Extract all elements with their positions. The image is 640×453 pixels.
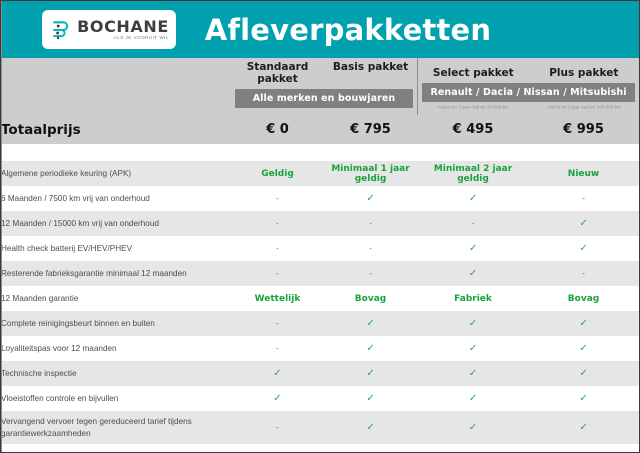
cell-select: ✓ [418,236,528,261]
cell-basis: - [324,236,417,261]
feature-label: Technische inspectie [1,361,231,386]
cell-basis: Bovag [324,286,417,311]
cell-plus: ✓ [528,336,639,361]
column-title-plus: Plus pakket [529,64,640,79]
cell-basis: ✓ [324,411,417,444]
cell-select: - [418,211,528,236]
table-row: Resterende fabrieksgarantie minimaal 12 … [1,261,639,286]
feature-label: Pechhulp Europa 24/7 tijdens fabrieksgar… [1,444,231,453]
afleverpakketten-page: BOCHANE ALS JE VOORUIT WIL Afleverpakket… [0,0,640,453]
cell-standaard: Wettelijk [231,286,324,311]
total-price-label: Totaalprijs [1,115,231,144]
cell-plus: Bovag [528,286,639,311]
total-price-row: Totaalprijs € 0 € 795 € 495 € 995 [1,115,639,144]
cell-standaard: - [231,236,324,261]
cell-select: ✓ [418,361,528,386]
spacer-right [418,144,639,161]
feature-label: Algemene periodieke keuring (APK) [1,161,231,186]
cell-plus: ✓ [528,361,639,386]
page-title: Afleverpakketten [1,13,639,47]
cell-basis: Minimaal 1 jaar geldig [324,161,417,186]
cell-basis: ✓ [324,336,417,361]
cell-standaard: ✓ [231,386,324,411]
cell-plus: - [528,186,639,211]
brandbar-renault-group: Renault / Dacia / Nissan / Mitsubishi [422,83,635,102]
cell-plus: ✓ [528,311,639,336]
cell-select: ✓ [418,261,528,286]
cell-select: Fabriek [418,286,528,311]
feature-label: Health check batterij EV/HEV/PHEV [1,236,231,261]
spacer-left [1,144,417,161]
cell-basis: ✓ [324,361,417,386]
header-group-renault-brands: Select pakket Plus pakket Renault / Daci… [418,58,639,115]
cell-basis: - [324,444,417,453]
cell-select: ✓ [418,386,528,411]
feature-label: 12 Maanden garantie [1,286,231,311]
cell-plus: ✓ [528,386,639,411]
feature-label: Vloeistoffen controle en bijvullen [1,386,231,411]
cell-standaard: - [231,336,324,361]
cell-basis: ✓ [324,186,417,211]
cell-standaard: - [231,211,324,236]
cell-select: Minimaal 2 jaar geldig [418,161,528,186]
feature-label: Loyaliteitspas voor 12 maanden [1,336,231,361]
feature-label: Resterende fabrieksgarantie minimaal 12 … [1,261,231,286]
brandbar-all-brands: Alle merken en bouwjaren [235,89,413,108]
cell-standaard: - [231,261,324,286]
header-empty-cell [1,58,231,115]
cell-plus: ✓ [528,211,639,236]
table-row: 12 Maanden garantieWettelijkBovagFabriek… [1,286,639,311]
cell-standaard: Geldig [231,161,324,186]
table-row: Technische inspectie✓✓✓✓ [1,361,639,386]
cell-select: ✓ [418,186,528,211]
cell-select: ✓ [418,311,528,336]
feature-label: 12 Maanden / 15000 km vrij van onderhoud [1,211,231,236]
table-row: 12 Maanden / 15000 km vrij van onderhoud… [1,211,639,236]
table-row: Complete reinigingsbeurt binnen en buite… [1,311,639,336]
table-row: 6 Maanden / 7500 km vrij van onderhoud-✓… [1,186,639,211]
column-title-standaard: Standaard pakket [231,58,324,85]
cell-standaard: - [231,411,324,444]
cell-select: ✓ [418,444,528,453]
feature-label: Complete reinigingsbeurt binnen en buite… [1,311,231,336]
price-plus: € 995 [528,115,639,144]
cell-basis: ✓ [324,386,417,411]
cell-plus: ✓ [528,236,639,261]
cell-basis: ✓ [324,311,417,336]
column-title-basis: Basis pakket [324,58,417,85]
packages-comparison-table: Standaard pakket Basis pakket Alle merke… [1,58,639,453]
price-basis: € 795 [324,115,417,144]
table-row: Loyaliteitspas voor 12 maanden-✓✓✓ [1,336,639,361]
cell-plus: Nieuw [528,161,639,186]
table-row: Vervangend vervoer tegen gereduceerd tar… [1,411,639,444]
cell-standaard: - [231,186,324,211]
feature-label: Vervangend vervoer tegen gereduceerd tar… [1,411,231,444]
feature-rows: Algemene periodieke keuring (APK)GeldigM… [1,161,639,453]
column-title-select: Select pakket [418,64,529,79]
cell-basis: - [324,261,417,286]
cell-plus: - [528,444,639,453]
page-header: BOCHANE ALS JE VOORUIT WIL Afleverpakket… [1,1,639,58]
cell-standaard: - [231,444,324,453]
cell-basis: - [324,211,417,236]
cell-plus: - [528,261,639,286]
cell-select: ✓ [418,336,528,361]
price-standaard: € 0 [231,115,324,144]
table-row: Algemene periodieke keuring (APK)GeldigM… [1,161,639,186]
brandnote-plus: Auto's tot 5 jaar oud en 100.000 km [512,104,640,109]
price-select: € 495 [418,115,528,144]
table-spacer-row [1,144,639,161]
cell-select: ✓ [418,411,528,444]
table-row: Pechhulp Europa 24/7 tijdens fabrieksgar… [1,444,639,453]
feature-label: 6 Maanden / 7500 km vrij van onderhoud [1,186,231,211]
table-row: Health check batterij EV/HEV/PHEV--✓✓ [1,236,639,261]
cell-plus: ✓ [528,411,639,444]
header-group-all-brands: Standaard pakket Basis pakket Alle merke… [231,58,417,115]
cell-standaard: ✓ [231,361,324,386]
table-header-row: Standaard pakket Basis pakket Alle merke… [1,58,639,115]
table-row: Vloeistoffen controle en bijvullen✓✓✓✓ [1,386,639,411]
cell-standaard: - [231,311,324,336]
